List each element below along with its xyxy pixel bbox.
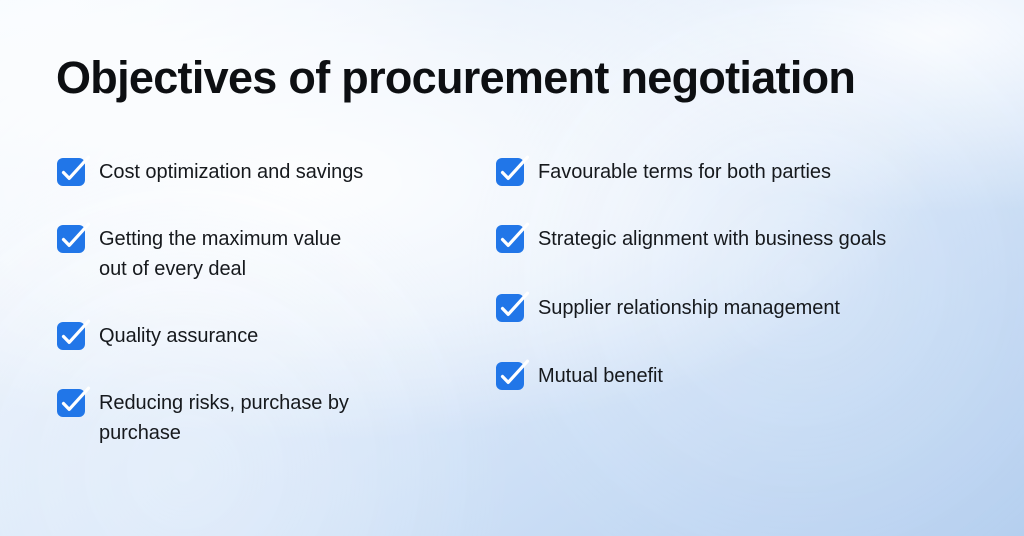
checklist-item-label: Quality assurance: [99, 321, 258, 351]
page-title: Objectives of procurement negotiation: [56, 54, 855, 102]
checklist-item: Mutual benefit: [496, 361, 663, 391]
checkbox-checked-icon: [496, 362, 524, 390]
checklist-item-label: Strategic alignment with business goals: [538, 224, 886, 254]
checklist-item: Favourable terms for both parties: [496, 157, 831, 187]
checklist-item-label: Reducing risks, purchase by purchase: [99, 388, 349, 448]
checkbox-checked-icon: [496, 225, 524, 253]
checklist-item-label: Favourable terms for both parties: [538, 157, 831, 187]
checklist-item-label: Getting the maximum value out of every d…: [99, 224, 341, 284]
checklist-item: Cost optimization and savings: [57, 157, 363, 187]
checklist-item-label: Mutual benefit: [538, 361, 663, 391]
checklist-item: Reducing risks, purchase by purchase: [57, 388, 349, 448]
checklist-item: Strategic alignment with business goals: [496, 224, 886, 254]
checkbox-checked-icon: [57, 322, 85, 350]
checkbox-checked-icon: [57, 158, 85, 186]
checklist-item-label: Cost optimization and savings: [99, 157, 363, 187]
checklist-item-label: Supplier relationship management: [538, 293, 840, 323]
checklist-item: Supplier relationship management: [496, 293, 840, 323]
checkbox-checked-icon: [57, 225, 85, 253]
checkbox-checked-icon: [496, 294, 524, 322]
checkbox-checked-icon: [496, 158, 524, 186]
checklist-item: Quality assurance: [57, 321, 258, 351]
checklist-item: Getting the maximum value out of every d…: [57, 224, 341, 284]
slide-canvas: Objectives of procurement negotiation Co…: [0, 0, 1024, 536]
checkbox-checked-icon: [57, 389, 85, 417]
